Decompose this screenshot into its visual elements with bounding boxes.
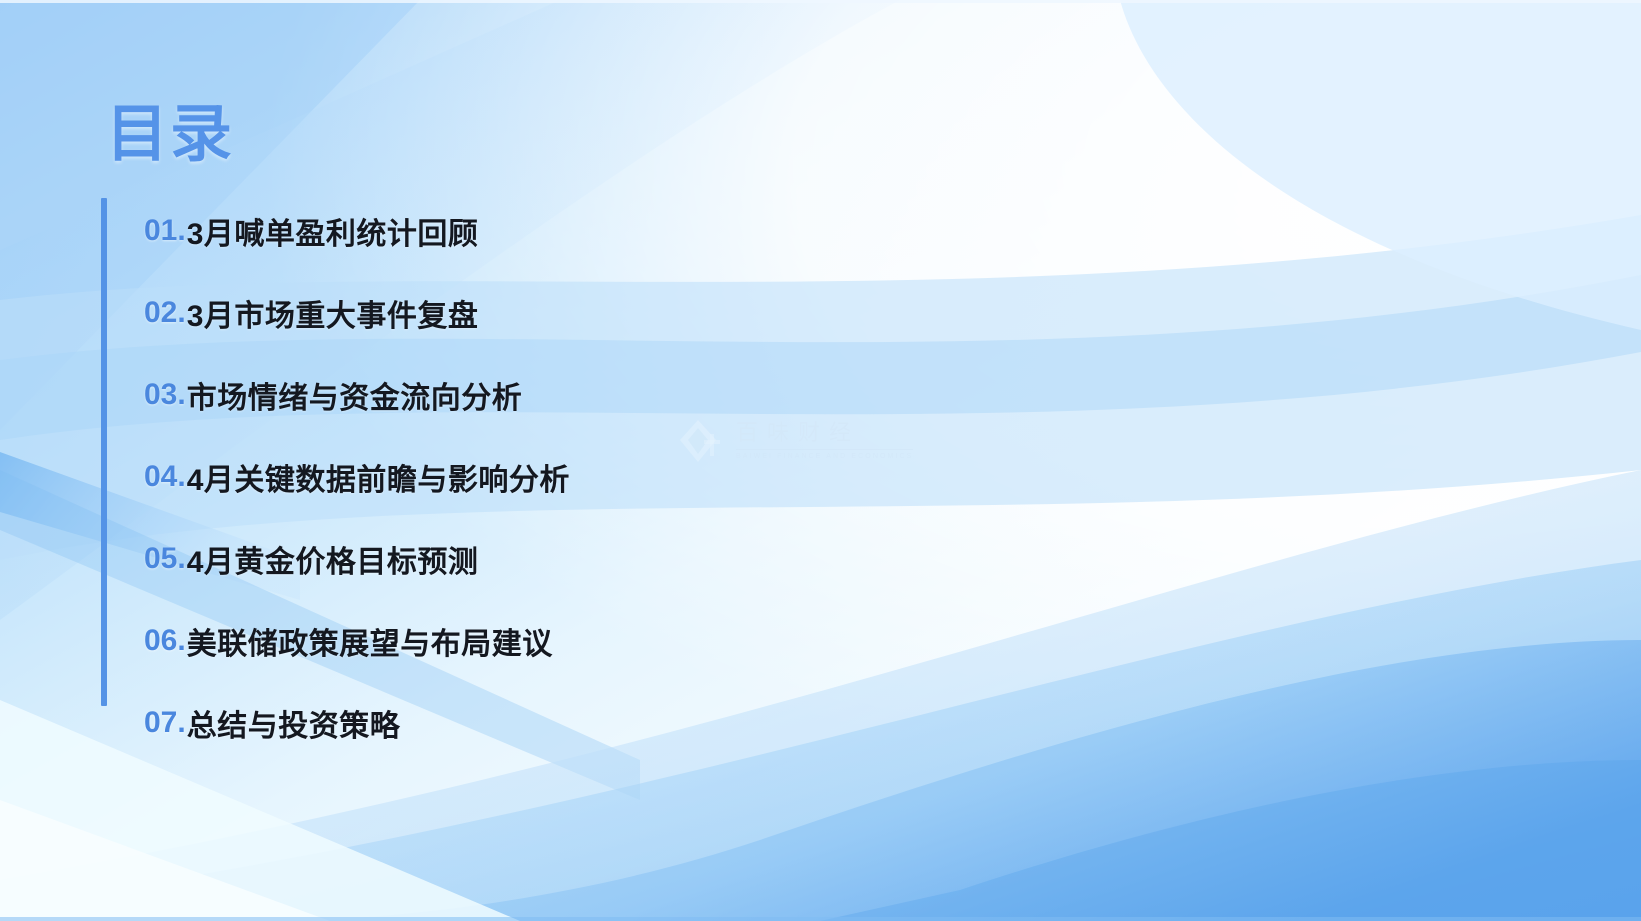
toc-label: 市场情绪与资金流向分析 (187, 373, 523, 417)
toc-number: 04. (144, 460, 186, 494)
toc-number: 06. (144, 624, 186, 658)
toc-number: 03. (144, 378, 186, 412)
presentation-slide: 百味财经 BAIWEI FINANCE AND ECONOMICS 目录 01.… (0, 0, 1641, 921)
toc-vertical-rule (101, 198, 107, 706)
toc-item-03[interactable]: 03. 市场情绪与资金流向分析 (144, 354, 1144, 436)
table-of-contents: 01. 3月喊单盈利统计回顾 02. 3月市场重大事件复盘 03. 市场情绪与资… (144, 190, 1144, 764)
toc-number: 01. (144, 214, 186, 248)
toc-item-07[interactable]: 07. 总结与投资策略 (144, 682, 1144, 764)
toc-number: 05. (144, 542, 186, 576)
toc-item-01[interactable]: 01. 3月喊单盈利统计回顾 (144, 190, 1144, 272)
toc-label: 3月市场重大事件复盘 (187, 291, 479, 335)
toc-item-04[interactable]: 04. 4月关键数据前瞻与影响分析 (144, 436, 1144, 518)
toc-label: 3月喊单盈利统计回顾 (187, 209, 479, 253)
toc-label: 美联储政策展望与布局建议 (187, 619, 553, 663)
toc-item-05[interactable]: 05. 4月黄金价格目标预测 (144, 518, 1144, 600)
toc-label: 总结与投资策略 (187, 701, 401, 745)
toc-number: 07. (144, 706, 186, 740)
toc-item-06[interactable]: 06. 美联储政策展望与布局建议 (144, 600, 1144, 682)
toc-number: 02. (144, 296, 186, 330)
toc-label: 4月关键数据前瞻与影响分析 (187, 455, 570, 499)
toc-label: 4月黄金价格目标预测 (187, 537, 479, 581)
page-title: 目录 (106, 104, 234, 166)
toc-item-02[interactable]: 02. 3月市场重大事件复盘 (144, 272, 1144, 354)
